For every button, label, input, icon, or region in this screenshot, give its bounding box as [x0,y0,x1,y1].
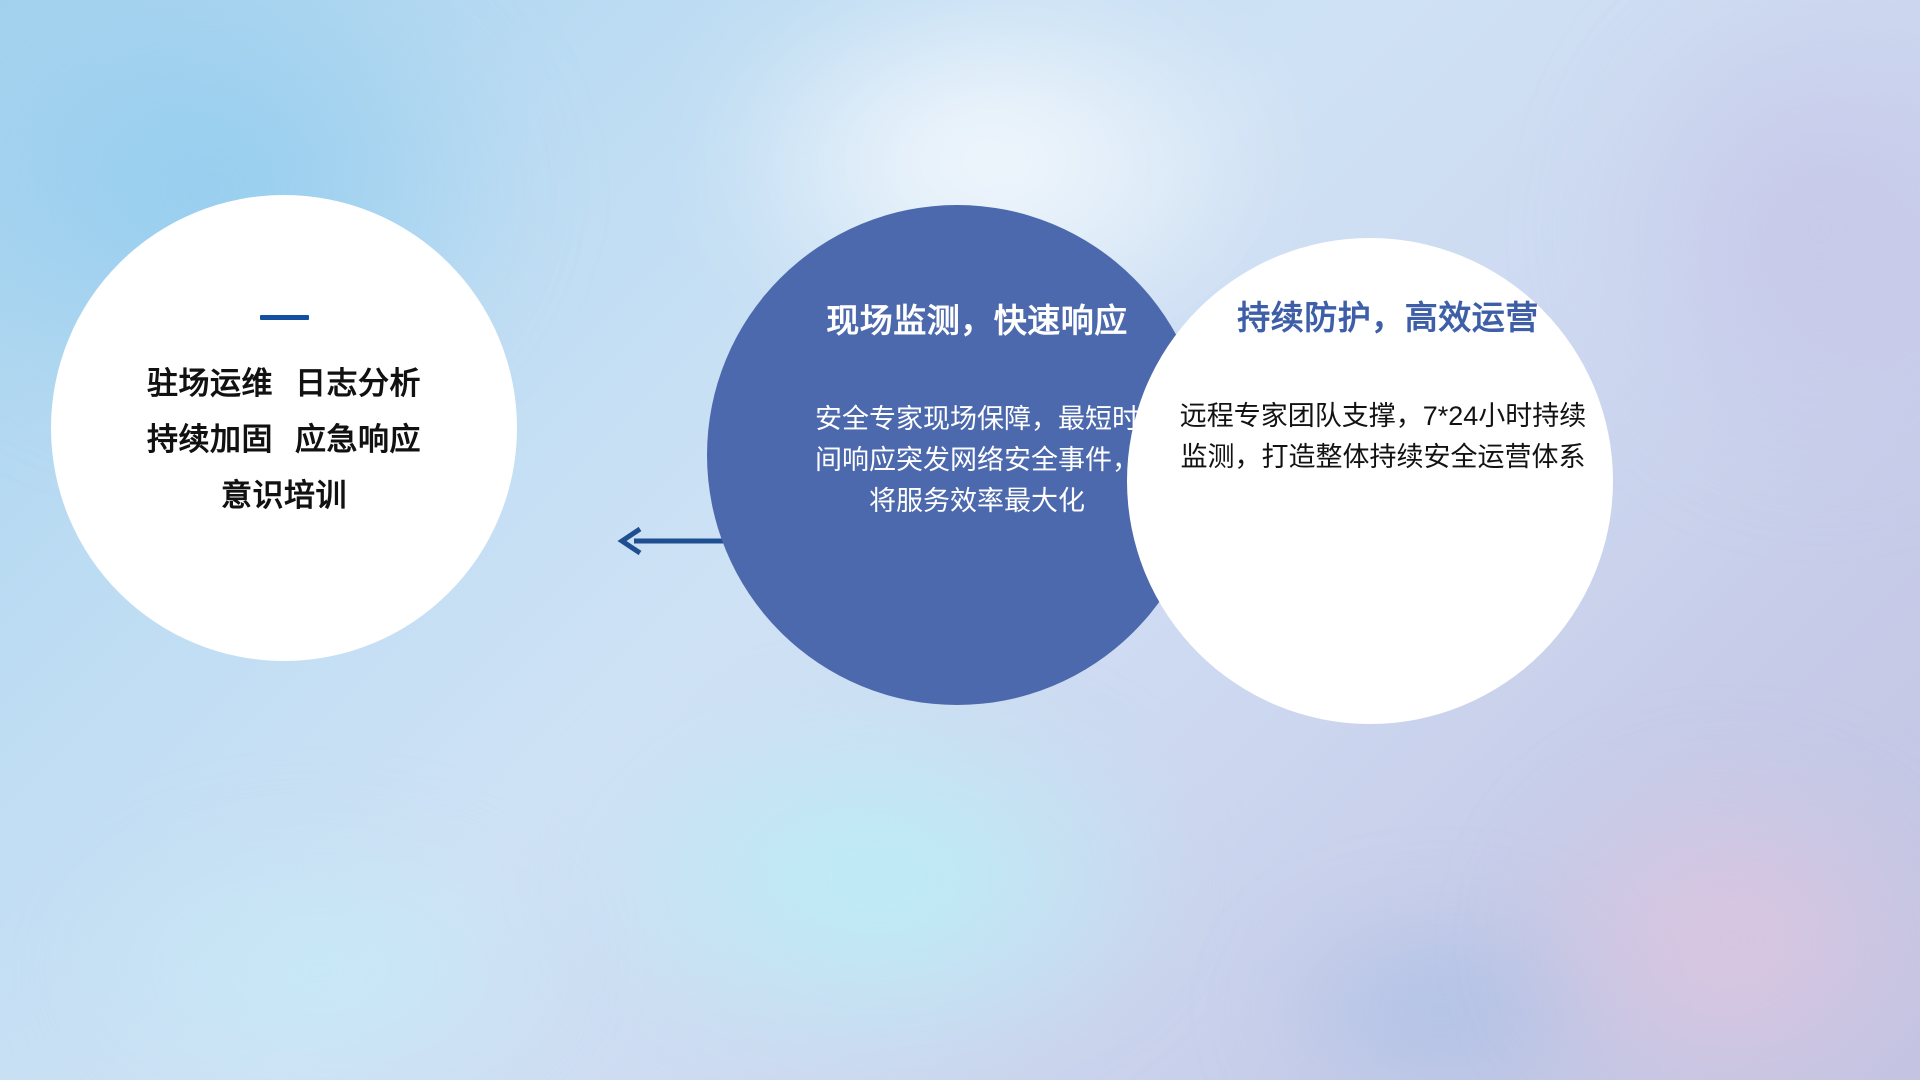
divider-dash-icon [260,315,309,320]
left-circle-keyword: 日志分析 [295,366,421,401]
left-circle-line-3: 意识培训 [221,480,347,511]
right-circle[interactable]: 持续防护，高效运营 远程专家团队支撑，7*24小时持续监测，打造整体持续安全运营… [1127,238,1613,724]
slide-canvas: 现场监测，快速响应 安全专家现场保障，最短时间响应突发网络安全事件，将服务效率最… [0,0,1920,1080]
left-circle[interactable]: 驻场运维日志分析 持续加固应急响应 意识培训 [51,195,517,661]
left-circle-content: 驻场运维日志分析 持续加固应急响应 意识培训 [51,195,517,661]
left-circle-keyword: 意识培训 [221,478,347,513]
center-circle-title: 现场监测，快速响应 [826,303,1128,339]
right-circle-body: 远程专家团队支撑，7*24小时持续监测，打造整体持续安全运营体系 [1174,396,1592,478]
left-circle-keyword: 持续加固 [147,422,273,457]
center-circle-body: 安全专家现场保障，最短时间响应突发网络安全事件，将服务效率最大化 [812,399,1142,522]
left-circle-keyword: 应急响应 [295,422,421,457]
left-circle-line-2: 持续加固应急响应 [147,424,421,455]
right-circle-title: 持续防护，高效运营 [1237,300,1539,336]
right-circle-content: 持续防护，高效运营 远程专家团队支撑，7*24小时持续监测，打造整体持续安全运营… [1127,238,1613,724]
left-circle-keyword: 驻场运维 [147,366,273,401]
left-circle-line-1: 驻场运维日志分析 [147,368,421,399]
